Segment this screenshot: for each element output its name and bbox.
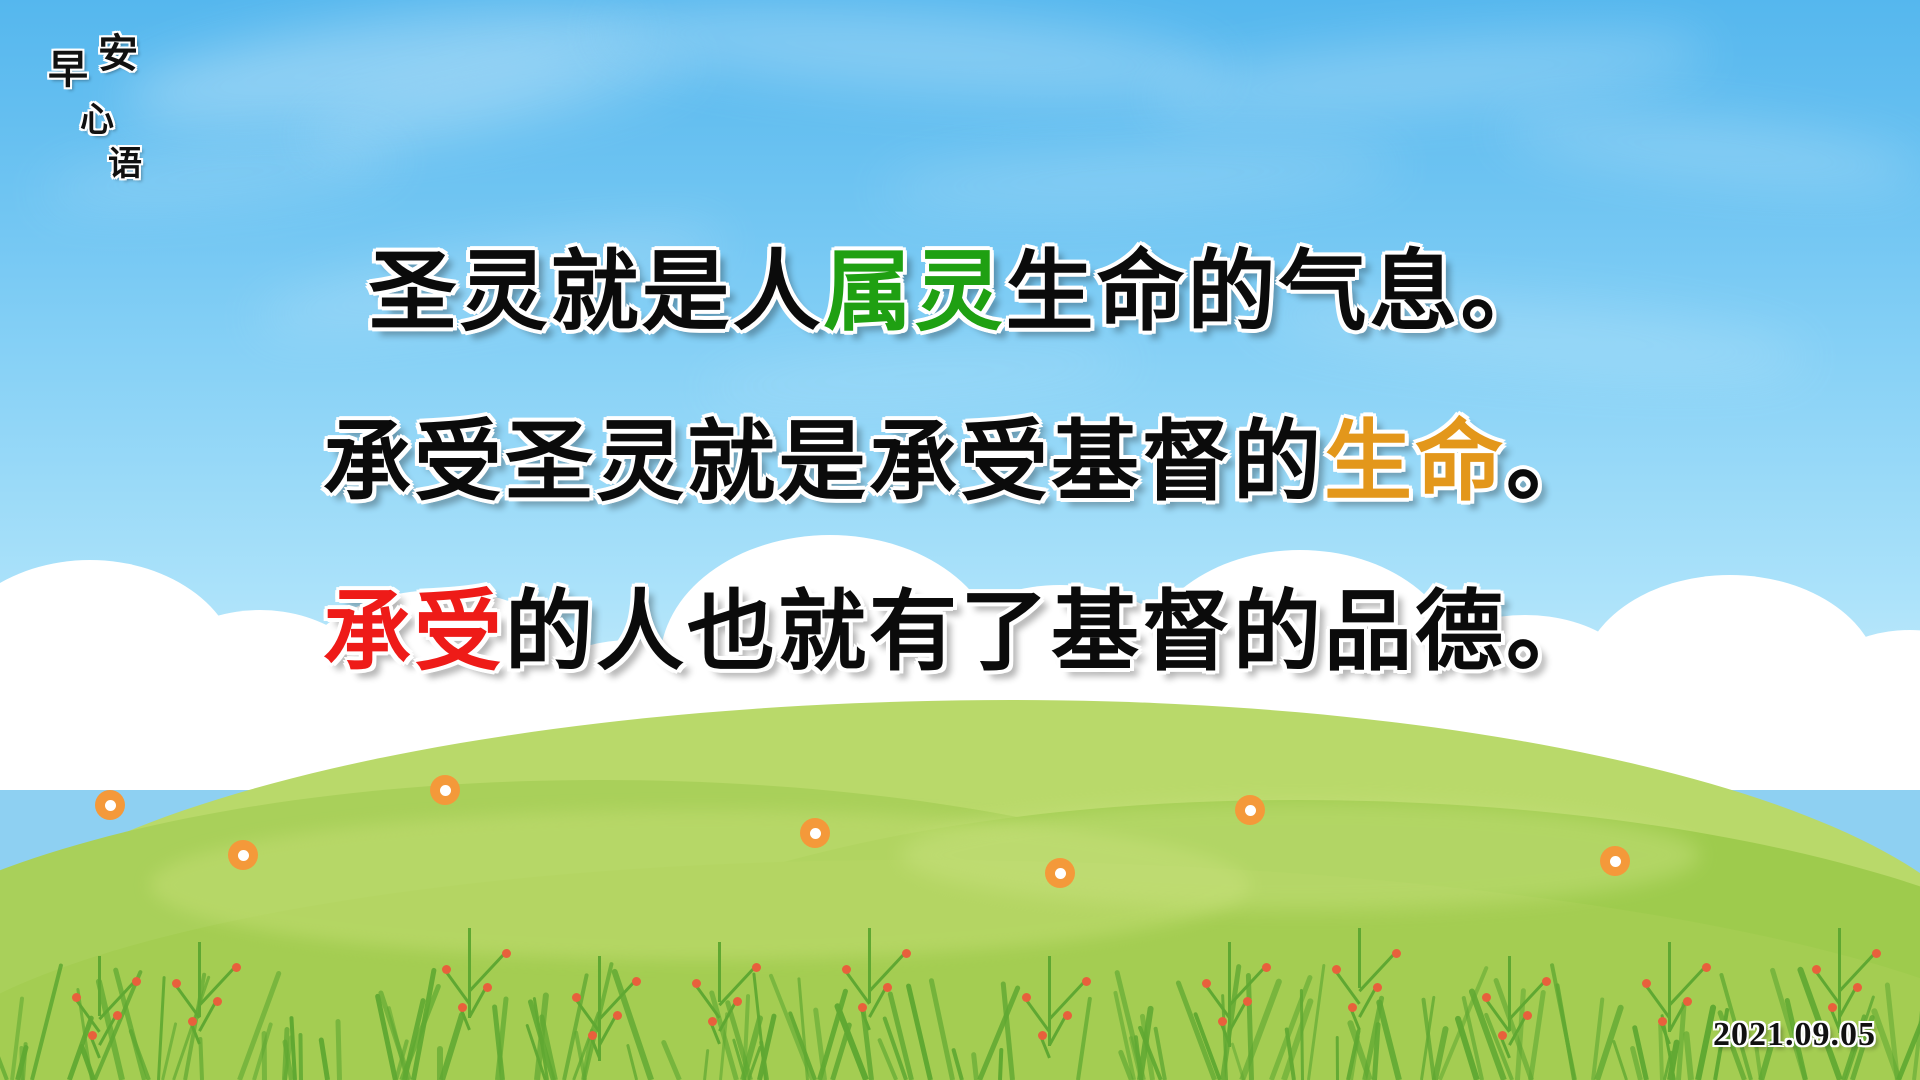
quote-seg-highlight-orange: 生命	[1324, 415, 1506, 512]
flower-plant	[560, 956, 640, 1076]
flower-bud	[1853, 983, 1862, 992]
flower-bud	[1683, 997, 1692, 1006]
flower-plant	[1190, 942, 1270, 1062]
flower-plant	[60, 956, 140, 1076]
flower-bud	[1658, 1017, 1667, 1026]
flower-bud	[188, 1017, 197, 1026]
flower-bud	[1082, 977, 1091, 986]
quote-line-1: 圣灵就是人属灵生命的气息。	[0, 250, 1920, 338]
grass-blade	[261, 1031, 267, 1080]
grass-blade	[998, 1048, 1003, 1080]
flower-stem	[1358, 928, 1361, 988]
flower-plant	[680, 942, 760, 1062]
flower-bud	[708, 1017, 717, 1026]
flower-bud	[1202, 979, 1211, 988]
flower-branch	[1644, 983, 1671, 1018]
quote-seg: 生命的气息。	[1006, 245, 1552, 342]
flower-bud	[1038, 1031, 1047, 1040]
quote-seg: 。	[1506, 415, 1597, 512]
flower-bud	[883, 983, 892, 992]
flower-bud	[692, 979, 701, 988]
flower-branch	[694, 983, 721, 1018]
flower-bud	[1642, 979, 1651, 988]
quote-seg: 圣灵就是人	[368, 245, 823, 342]
flower-bud	[213, 997, 222, 1006]
flower-bud	[858, 1003, 867, 1012]
flower-bud	[1812, 965, 1821, 974]
flower-blossom	[1045, 858, 1075, 888]
flower-branch	[1358, 988, 1376, 1018]
flower-branch	[1334, 969, 1361, 1004]
logo-char-3: 心	[80, 104, 114, 138]
flower-bud	[172, 979, 181, 988]
flower-branch	[98, 1016, 116, 1046]
flower-bud	[232, 963, 241, 972]
flower-branch	[174, 983, 201, 1018]
logo-char-4: 语	[108, 148, 142, 182]
flower-stem	[98, 956, 101, 1016]
meadow-highlight	[900, 800, 1700, 910]
flower-blossom	[1600, 846, 1630, 876]
flower-bud	[1482, 993, 1491, 1002]
flower-blossom	[800, 818, 830, 848]
date-stamp: 2021.09.05	[1713, 1016, 1876, 1054]
flower-branch	[1024, 997, 1051, 1032]
flower-bud	[1542, 977, 1551, 986]
flower-bud	[502, 949, 511, 958]
quote-block: 圣灵就是人属灵生命的气息。 承受圣灵就是承受基督的生命。 承受的人也就有了基督的…	[0, 250, 1920, 678]
flower-bud	[1022, 993, 1031, 1002]
flower-branch	[1204, 983, 1231, 1018]
flower-bud	[733, 997, 742, 1006]
flower-bud	[572, 993, 581, 1002]
flower-bud	[88, 1031, 97, 1040]
flower-bud	[1332, 965, 1341, 974]
flower-bud	[458, 1003, 467, 1012]
flower-plant	[1320, 928, 1400, 1048]
flower-plant	[1630, 942, 1710, 1062]
flower-bud	[1523, 1011, 1532, 1020]
quote-seg-highlight-green: 属灵	[823, 245, 1005, 342]
flower-plant	[1010, 956, 1090, 1076]
flower-blossom	[1235, 795, 1265, 825]
flower-plant	[430, 928, 510, 1048]
flower-blossom	[430, 775, 460, 805]
flower-bud	[1392, 949, 1401, 958]
flower-bud	[902, 949, 911, 958]
flower-bud	[588, 1031, 597, 1040]
flower-branch	[444, 969, 471, 1004]
flower-stem	[718, 942, 721, 1002]
flower-bud	[1348, 1003, 1357, 1012]
quote-seg: 承受圣灵就是承受基督的	[323, 415, 1324, 512]
flower-bud	[72, 993, 81, 1002]
flower-branch	[574, 997, 601, 1032]
flower-plant	[830, 928, 910, 1048]
flower-blossom	[95, 790, 125, 820]
flower-bud	[1872, 949, 1881, 958]
flower-bud	[1828, 1003, 1837, 1012]
flower-bud	[483, 983, 492, 992]
grass-blade	[335, 1019, 341, 1080]
quote-line-2: 承受圣灵就是承受基督的生命。	[0, 420, 1920, 508]
flower-bud	[1373, 983, 1382, 992]
flower-branch	[844, 969, 871, 1004]
flower-bud	[1262, 963, 1271, 972]
logo-char-2: 安	[98, 34, 138, 74]
flower-branch	[718, 1002, 736, 1032]
flower-bud	[613, 1011, 622, 1020]
flower-branch	[1484, 997, 1511, 1032]
flower-bud	[842, 965, 851, 974]
flower-bud	[1498, 1031, 1507, 1040]
flower-bud	[1063, 1011, 1072, 1020]
brand-logo: 早 安 心 语	[36, 22, 216, 202]
flower-bud	[1218, 1017, 1227, 1026]
flower-bud	[1243, 997, 1252, 1006]
grass-blade	[19, 1046, 24, 1080]
poster-canvas: 早 安 心 语 圣灵就是人属灵生命的气息。 承受圣灵就是承受基督的生命。 承受的…	[0, 0, 1920, 1080]
flower-plant	[1470, 956, 1550, 1076]
flower-bud	[132, 977, 141, 986]
flower-bud	[632, 977, 641, 986]
flower-bud	[442, 965, 451, 974]
flower-branch	[1814, 969, 1841, 1004]
quote-line-3: 承受的人也就有了基督的品德。	[0, 590, 1920, 678]
flower-bud	[752, 963, 761, 972]
logo-char-1: 早	[48, 50, 88, 90]
quote-seg-highlight-red: 承受	[323, 585, 505, 682]
flower-branch	[74, 997, 101, 1032]
flower-bud	[113, 1011, 122, 1020]
flower-bud	[1702, 963, 1711, 972]
quote-seg: 的人也就有了基督的品德。	[505, 585, 1597, 682]
flower-blossom	[228, 840, 258, 870]
flower-plant	[160, 942, 240, 1062]
